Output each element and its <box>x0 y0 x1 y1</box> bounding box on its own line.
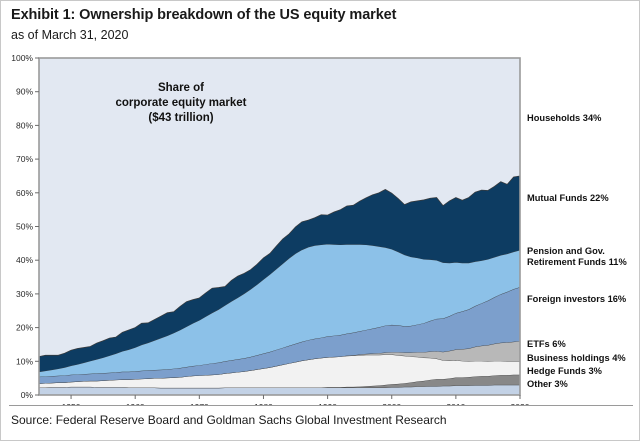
y-tick-label: 80% <box>16 120 33 130</box>
series-label-households: Households 34% <box>527 113 602 123</box>
y-tick-label: 0% <box>21 390 34 400</box>
source-note: Source: Federal Reserve Board and Goldma… <box>11 413 447 427</box>
y-tick-label: 20% <box>16 323 33 333</box>
y-tick-label: 30% <box>16 289 33 299</box>
chart-annotation-line-1: Share of <box>158 82 204 94</box>
page-title: Exhibit 1: Ownership breakdown of the US… <box>11 7 396 23</box>
series-label-other: Other 3% <box>527 379 569 389</box>
y-tick-label: 70% <box>16 154 33 164</box>
series-label-mutual-funds: Mutual Funds 22% <box>527 193 609 203</box>
stacked-area-chart: 0%10%20%30%40%50%60%70%80%90%100%1950196… <box>1 45 640 405</box>
y-tick-label: 60% <box>16 188 33 198</box>
y-tick-label: 40% <box>16 255 33 265</box>
exhibit-panel: Exhibit 1: Ownership breakdown of the US… <box>0 0 640 441</box>
y-tick-label: 10% <box>16 356 33 366</box>
chart-annotation-line-3: ($43 trillion) <box>148 112 213 124</box>
chart-annotation-line-2: corporate equity market <box>115 97 246 109</box>
series-label-hedge: Hedge Funds 3% <box>527 366 603 376</box>
chart-subtitle: as of March 31, 2020 <box>11 28 128 42</box>
chart-plot-area: 0%10%20%30%40%50%60%70%80%90%100%1950196… <box>1 45 640 405</box>
series-label-etfs: ETFs 6% <box>527 339 566 349</box>
series-label-pension-1: Pension and Gov. <box>527 246 605 256</box>
source-divider <box>9 405 633 406</box>
y-tick-label: 90% <box>16 87 33 97</box>
series-label-foreign: Foreign investors 16% <box>527 294 627 304</box>
y-tick-label: 50% <box>16 222 33 232</box>
series-label-business: Business holdings 4% <box>527 353 626 363</box>
series-label-pension-2: Retirement Funds 11% <box>527 257 627 267</box>
y-tick-label: 100% <box>11 53 33 63</box>
